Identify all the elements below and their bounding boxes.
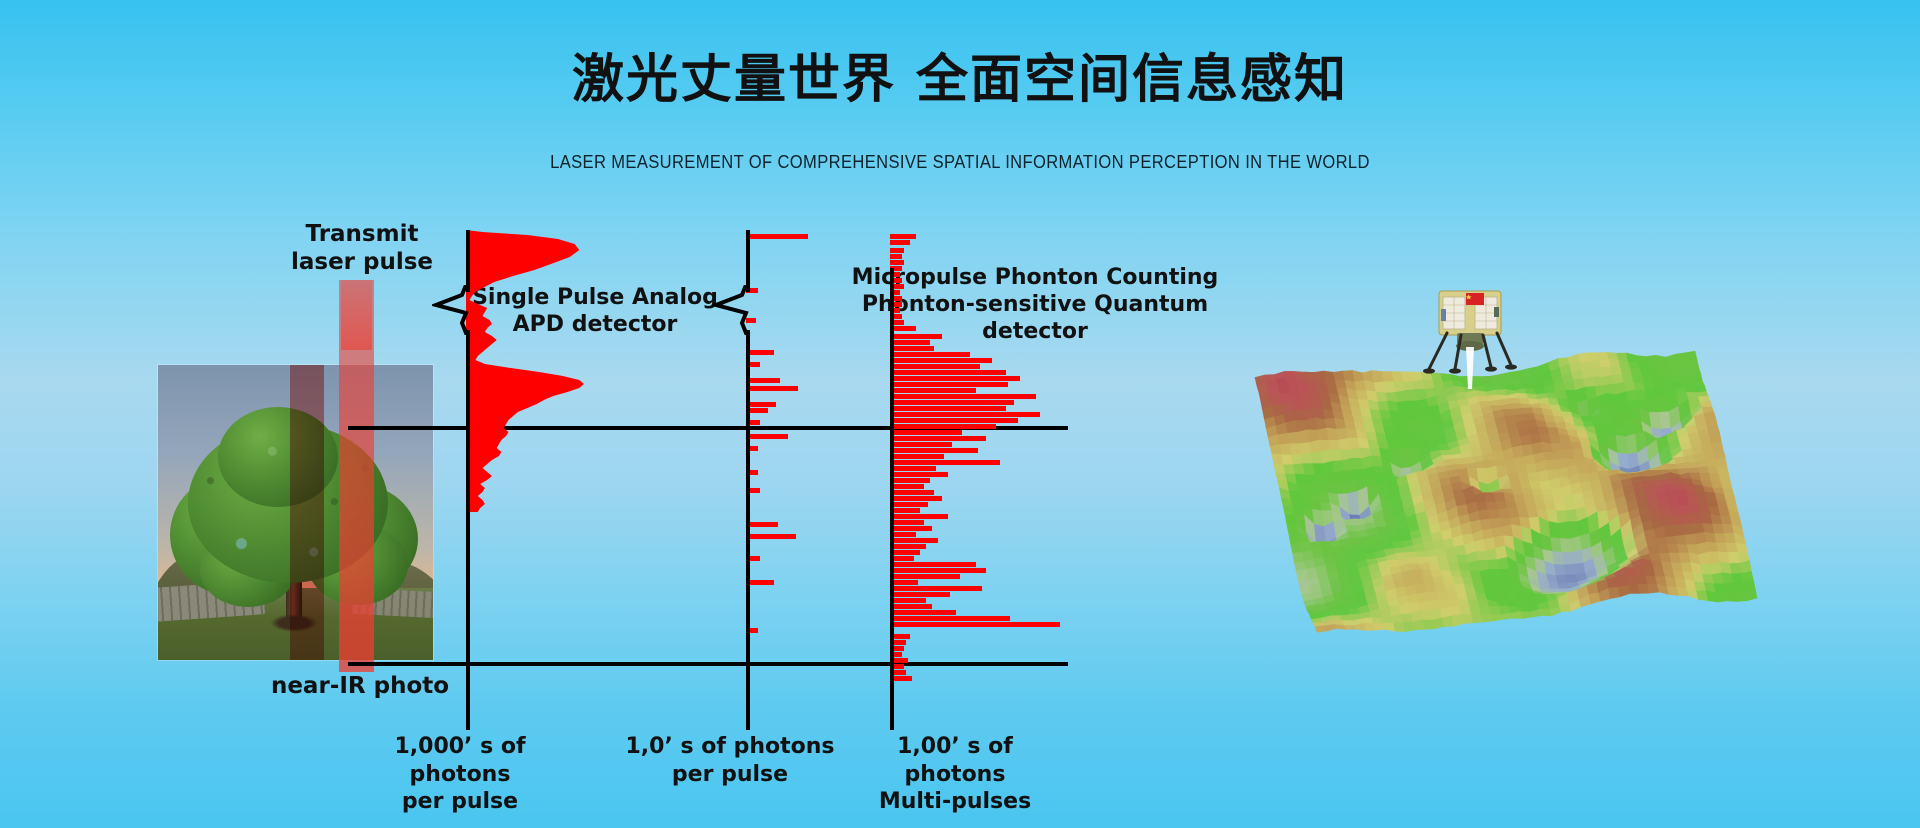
near-ir-photo-label: near-IR photo <box>250 672 470 700</box>
analog-waveform-curve <box>466 230 646 730</box>
photon-count-spike <box>890 376 1020 381</box>
photon-count-spike <box>890 538 938 543</box>
axis-break-icon <box>432 285 468 331</box>
photon-count-spike <box>890 586 982 591</box>
axis-break-icon <box>712 285 748 331</box>
photon-count-spike <box>890 544 926 549</box>
photon-count-spike <box>746 234 808 239</box>
photon-count-caption: 1,0’ s of photons per pulse <box>625 733 835 788</box>
photon-count-spike <box>890 406 1006 411</box>
photon-count-spike <box>890 526 932 531</box>
photon-count-spike <box>890 604 932 609</box>
photon-count-spike <box>746 378 780 383</box>
photon-count-spike <box>890 592 950 597</box>
photon-count-spike <box>746 386 798 391</box>
transmit-label-line1: Transmit <box>262 220 462 248</box>
caption-line1: 1,0’ s of photons <box>625 733 835 761</box>
photon-count-spike <box>890 478 930 483</box>
photon-count-spike <box>890 442 952 447</box>
low-rate-photon-axis <box>746 230 750 292</box>
page-title: 激光丈量世界 全面空间信息感知 <box>0 52 1920 109</box>
photon-count-spike <box>890 240 910 245</box>
photon-count-spike <box>890 394 1036 399</box>
terrain-visualization <box>1195 330 1775 730</box>
micropulse-photon-panel <box>890 230 1070 730</box>
photon-count-spike <box>890 382 1008 387</box>
low-rate-photon-panel <box>746 230 876 730</box>
caption-line1: 1,00’ s of photons <box>845 733 1065 788</box>
photon-count-spike <box>890 400 1014 405</box>
photon-count-spike <box>890 352 970 357</box>
laser-beam <box>339 280 374 672</box>
photon-count-spike <box>890 514 948 519</box>
photon-count-spike <box>890 484 924 489</box>
photon-count-spike <box>890 412 1040 417</box>
photon-count-spike <box>890 448 978 453</box>
photon-count-spike <box>890 580 918 585</box>
analog-waveform-axis <box>466 330 470 730</box>
photon-count-spike <box>890 562 976 567</box>
photon-count-spike <box>746 402 776 407</box>
photon-count-spike <box>890 234 916 239</box>
photon-count-spike <box>746 580 774 585</box>
photon-count-spike <box>890 496 942 501</box>
photon-count-spike <box>890 430 962 435</box>
photon-count-spike <box>890 254 902 259</box>
near-ir-photo-image <box>158 365 433 660</box>
photon-count-spike <box>746 434 788 439</box>
photon-count-spike <box>890 418 1018 423</box>
photon-count-spike <box>890 568 986 573</box>
photon-count-spike <box>890 622 1060 627</box>
photon-count-spike <box>890 550 920 555</box>
photon-count-spike <box>890 436 986 441</box>
lunar-lander-icon <box>1417 285 1529 397</box>
photon-count-spike <box>890 248 904 253</box>
photon-count-spike <box>890 454 944 459</box>
photon-count-spike <box>746 534 796 539</box>
photon-count-spike <box>746 522 778 527</box>
photon-count-spike <box>746 350 774 355</box>
photon-count-spike <box>890 370 1006 375</box>
photon-count-spike <box>890 340 930 345</box>
micropulse-photon-axis <box>890 268 894 730</box>
photon-count-caption: 1,00’ s of photons Multi-pulses <box>845 733 1065 816</box>
caption-line2: per pulse <box>625 761 835 789</box>
analog-waveform-axis <box>466 230 470 292</box>
photon-count-spike <box>890 466 936 471</box>
photon-count-spike <box>890 490 934 495</box>
photon-count-spike <box>890 502 928 507</box>
analog-return-waveform <box>466 230 584 512</box>
poster-canvas: 激光丈量世界 全面空间信息感知 LASER MEASUREMENT OF COM… <box>0 0 1920 828</box>
caption-line2: per pulse <box>345 788 575 816</box>
photon-count-spike <box>890 616 1010 621</box>
caption-line2: Multi-pulses <box>845 788 1065 816</box>
photon-count-spike <box>890 610 956 615</box>
caption-line1: 1,000’ s of photons <box>345 733 575 788</box>
analog-waveform-panel <box>466 230 646 730</box>
photon-count-spike <box>890 508 920 513</box>
photon-count-spike <box>890 260 904 265</box>
photon-count-spike <box>890 358 992 363</box>
low-rate-photon-axis <box>746 330 750 730</box>
photon-count-caption: 1,000’ s of photons per pulse <box>345 733 575 816</box>
photon-count-spike <box>890 364 980 369</box>
photon-count-spike <box>890 520 924 525</box>
transmit-label-line2: laser pulse <box>262 248 462 276</box>
photon-count-spike <box>890 472 948 477</box>
photo-laser-beam-overlay <box>290 365 324 660</box>
photon-count-spike <box>890 574 960 579</box>
page-subtitle: LASER MEASUREMENT OF COMPREHENSIVE SPATI… <box>77 152 1843 173</box>
photon-count-spike <box>890 598 926 603</box>
photon-count-spike <box>890 388 976 393</box>
photon-count-spike <box>890 424 996 429</box>
photon-count-spike <box>890 334 942 339</box>
transmit-laser-pulse-label: Transmit laser pulse <box>262 220 462 276</box>
photon-count-spike <box>890 460 1000 465</box>
photon-count-spike <box>890 346 934 351</box>
